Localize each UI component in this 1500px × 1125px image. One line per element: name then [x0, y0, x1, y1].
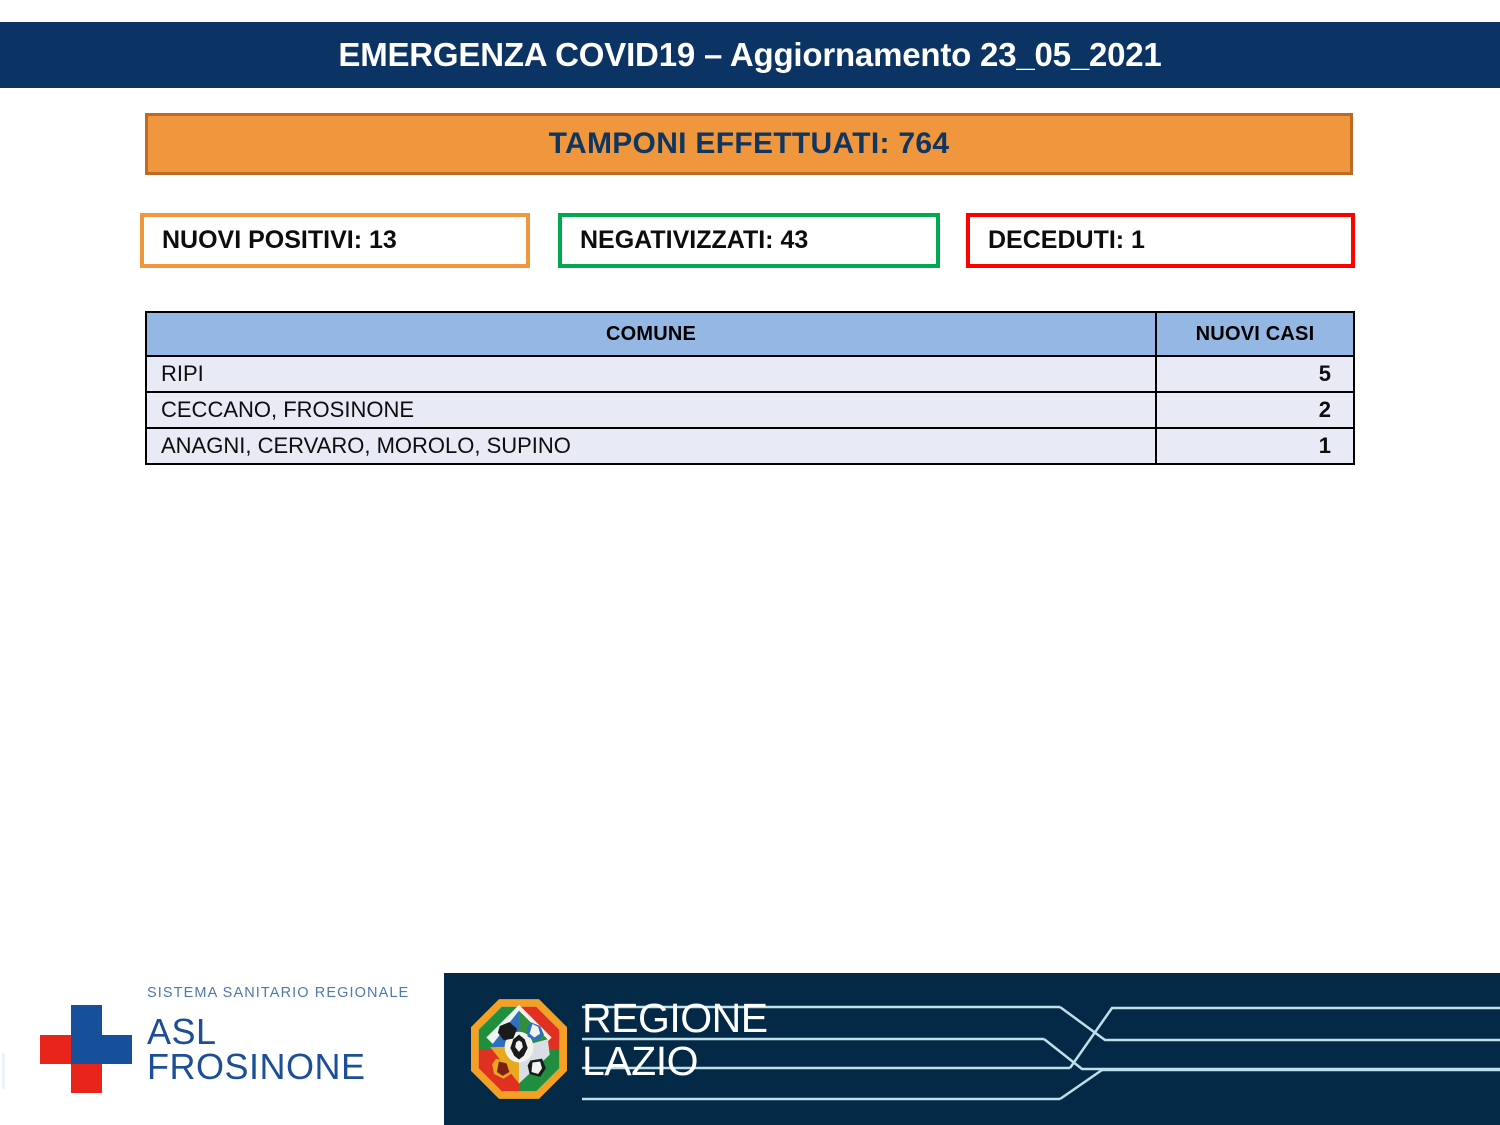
page-footer: SISTEMA SANITARIO REGIONALE ASL FROSINON… — [0, 973, 1500, 1125]
cross-arm-right — [102, 1035, 132, 1064]
stat-label-deceduti: DECEDUTI: 1 — [970, 226, 1145, 255]
table-row: CECCANO, FROSINONE 2 — [146, 392, 1354, 428]
cell-nuovi-casi: 1 — [1156, 428, 1354, 464]
regione-lazio-line2: LAZIO — [582, 1040, 912, 1083]
tamponi-effettuati-banner: TAMPONI EFFETTUATI: 764 — [145, 113, 1353, 175]
stat-box-nuovi-positivi: NUOVI POSITIVI: 13 — [140, 213, 530, 268]
asl-name-line2: FROSINONE — [147, 1050, 427, 1085]
asl-sistema-label: SISTEMA SANITARIO REGIONALE — [147, 985, 427, 1001]
cell-nuovi-casi: 5 — [1156, 356, 1354, 392]
cross-arm-top — [71, 1005, 102, 1035]
cell-comune: CECCANO, FROSINONE — [146, 392, 1156, 428]
table-header-row: COMUNE NUOVI CASI — [146, 312, 1354, 356]
cell-comune: ANAGNI, CERVARO, MOROLO, SUPINO — [146, 428, 1156, 464]
cross-arm-left — [40, 1035, 71, 1064]
cell-nuovi-casi: 2 — [1156, 392, 1354, 428]
asl-name-line1: ASL — [147, 1015, 427, 1050]
edge-tick-mark — [2, 1053, 5, 1089]
asl-frosinone-logo-area: SISTEMA SANITARIO REGIONALE ASL FROSINON… — [0, 973, 444, 1125]
cell-comune: RIPI — [146, 356, 1156, 392]
regione-lazio-logo-area: REGIONE LAZIO — [444, 973, 1500, 1125]
table-row: RIPI 5 — [146, 356, 1354, 392]
comuni-nuovi-casi-table: COMUNE NUOVI CASI RIPI 5 CECCANO, FROSIN… — [145, 311, 1355, 465]
page-header-bar: EMERGENZA COVID19 – Aggiornamento 23_05_… — [0, 22, 1500, 88]
summary-stats-row: NUOVI POSITIVI: 13 NEGATIVIZZATI: 43 DEC… — [140, 213, 1355, 268]
stat-label-negativizzati: NEGATIVIZZATI: 43 — [562, 226, 808, 255]
cross-center — [71, 1035, 102, 1064]
stat-box-deceduti: DECEDUTI: 1 — [966, 213, 1355, 268]
regione-lazio-coat-of-arms-icon — [471, 999, 567, 1099]
column-header-nuovi-casi: NUOVI CASI — [1156, 312, 1354, 356]
asl-cross-icon — [40, 1005, 132, 1093]
page-title: EMERGENZA COVID19 – Aggiornamento 23_05_… — [338, 36, 1161, 74]
regione-lazio-wordmark: REGIONE LAZIO — [582, 997, 912, 1082]
stat-label-nuovi-positivi: NUOVI POSITIVI: 13 — [144, 226, 397, 255]
tamponi-effettuati-label: TAMPONI EFFETTUATI: 764 — [549, 127, 950, 161]
cross-arm-bottom — [71, 1064, 102, 1093]
stat-box-negativizzati: NEGATIVIZZATI: 43 — [558, 213, 940, 268]
table-row: ANAGNI, CERVARO, MOROLO, SUPINO 1 — [146, 428, 1354, 464]
asl-wordmark: SISTEMA SANITARIO REGIONALE ASL FROSINON… — [147, 985, 427, 1085]
regione-lazio-line1: REGIONE — [582, 997, 912, 1040]
column-header-comune: COMUNE — [146, 312, 1156, 356]
